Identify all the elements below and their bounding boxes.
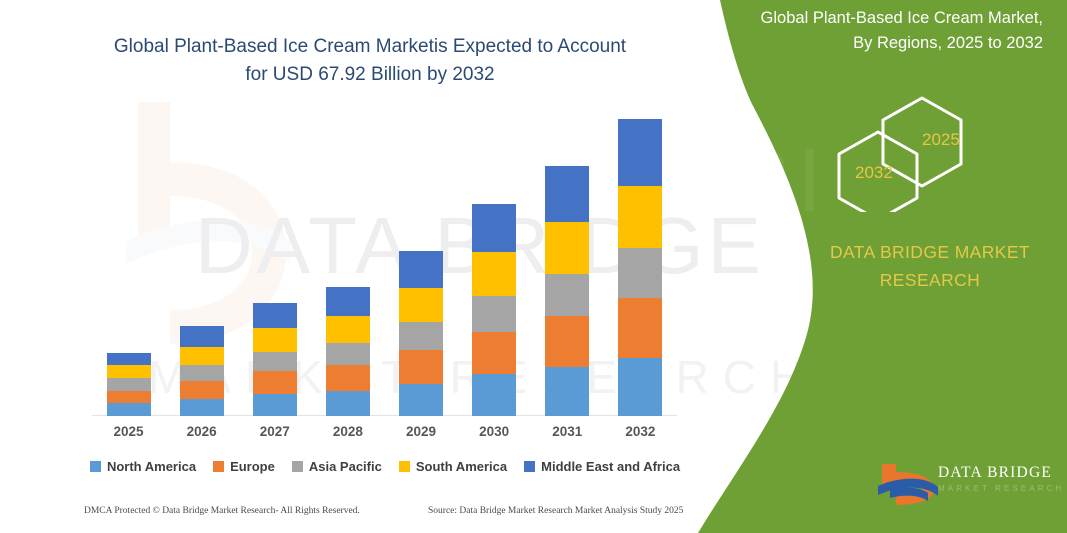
bar-segment <box>253 371 297 394</box>
panel-title: Global Plant-Based Ice Cream Market, By … <box>713 6 1043 56</box>
panel-brand-line-1: DATA BRIDGE MARKET <box>830 242 1030 262</box>
bar-segment <box>472 204 516 252</box>
bar-segment <box>399 384 443 416</box>
bar-segment <box>180 326 224 346</box>
bar-segment <box>253 352 297 371</box>
bar-segment <box>545 367 589 416</box>
bar-segment <box>253 394 297 416</box>
bar-segment <box>472 374 516 416</box>
stacked-bar-plot <box>92 110 677 416</box>
x-axis-label: 2028 <box>317 424 379 439</box>
bar-segment <box>326 365 370 391</box>
logo-wordmark: DATA BRIDGE <box>938 464 1052 482</box>
bar-segment <box>107 403 151 416</box>
bar-segment <box>326 391 370 416</box>
footer-copyright: DMCA Protected © Data Bridge Market Rese… <box>84 506 360 516</box>
bar-segment <box>472 332 516 375</box>
footer: DMCA Protected © Data Bridge Market Rese… <box>0 506 700 526</box>
legend-swatch-icon <box>213 461 224 472</box>
bar-column <box>107 353 151 416</box>
bar-segment <box>472 296 516 332</box>
bar-column <box>253 303 297 416</box>
legend-label: South America <box>416 459 507 474</box>
bar-segment <box>545 274 589 316</box>
bar-column <box>180 326 224 416</box>
bar-segment <box>180 399 224 416</box>
x-axis-label: 2025 <box>98 424 160 439</box>
x-axis-label: 2026 <box>171 424 233 439</box>
bar-segment <box>326 316 370 343</box>
bar-segment <box>107 353 151 366</box>
logo-subwordmark: MARKET RESEARCH <box>938 484 1064 493</box>
bar-segment <box>253 328 297 352</box>
legend-swatch-icon <box>90 461 101 472</box>
bar-segment <box>107 391 151 404</box>
legend-label: North America <box>107 459 196 474</box>
bar-segment <box>180 381 224 399</box>
panel-title-line-1: Global Plant-Based Ice Cream Market, <box>761 9 1043 27</box>
legend-item[interactable]: Europe <box>213 459 275 474</box>
legend-label: Europe <box>230 459 275 474</box>
legend-swatch-icon <box>399 461 410 472</box>
legend-label: Asia Pacific <box>309 459 382 474</box>
x-axis-labels: 20252026202720282029203020312032 <box>92 424 677 446</box>
x-axis-label: 2031 <box>536 424 598 439</box>
legend-item[interactable]: North America <box>90 459 196 474</box>
bar-segment <box>107 365 151 378</box>
x-axis-label: 2030 <box>463 424 525 439</box>
bar-segment <box>399 251 443 288</box>
panel-brand-line-2: RESEARCH <box>880 270 980 290</box>
chart-title-line-2: for USD 67.92 Billion by 2032 <box>245 64 494 85</box>
bar-column <box>326 287 370 416</box>
bar-segment <box>253 303 297 328</box>
chart-legend: North AmericaEuropeAsia PacificSouth Ame… <box>92 455 678 477</box>
bar-segment <box>545 222 589 274</box>
bar-column <box>472 204 516 416</box>
bar-segment <box>107 378 151 391</box>
hexagon-label-2032: 2032 <box>855 163 893 183</box>
bar-column <box>545 166 589 416</box>
legend-item[interactable]: Asia Pacific <box>292 459 382 474</box>
hexagon-pair <box>822 92 1002 212</box>
chart-title-line-1: Global Plant-Based Ice Cream Marketis Ex… <box>114 36 626 57</box>
bar-segment <box>326 287 370 316</box>
bar-segment <box>545 316 589 367</box>
legend-swatch-icon <box>292 461 303 472</box>
legend-swatch-icon <box>524 461 535 472</box>
bar-column <box>399 251 443 416</box>
bar-segment <box>180 347 224 366</box>
bar-segment <box>399 322 443 350</box>
x-axis-label: 2027 <box>244 424 306 439</box>
x-axis-label: 2029 <box>390 424 452 439</box>
bar-segment <box>399 350 443 383</box>
infographic-root: DATA BRIDGE MARKET RESEARCH Global Plant… <box>0 0 1067 533</box>
legend-item[interactable]: South America <box>399 459 507 474</box>
bar-segment <box>180 365 224 380</box>
bar-segment <box>326 343 370 365</box>
bar-segment <box>472 252 516 296</box>
panel-brand-name: DATA BRIDGE MARKET RESEARCH <box>800 238 1060 294</box>
bar-segment <box>545 166 589 222</box>
hexagon-label-2025: 2025 <box>922 130 960 150</box>
chart-title: Global Plant-Based Ice Cream Marketis Ex… <box>60 33 680 89</box>
bar-segment <box>399 288 443 322</box>
panel-title-line-2: By Regions, 2025 to 2032 <box>853 34 1043 52</box>
